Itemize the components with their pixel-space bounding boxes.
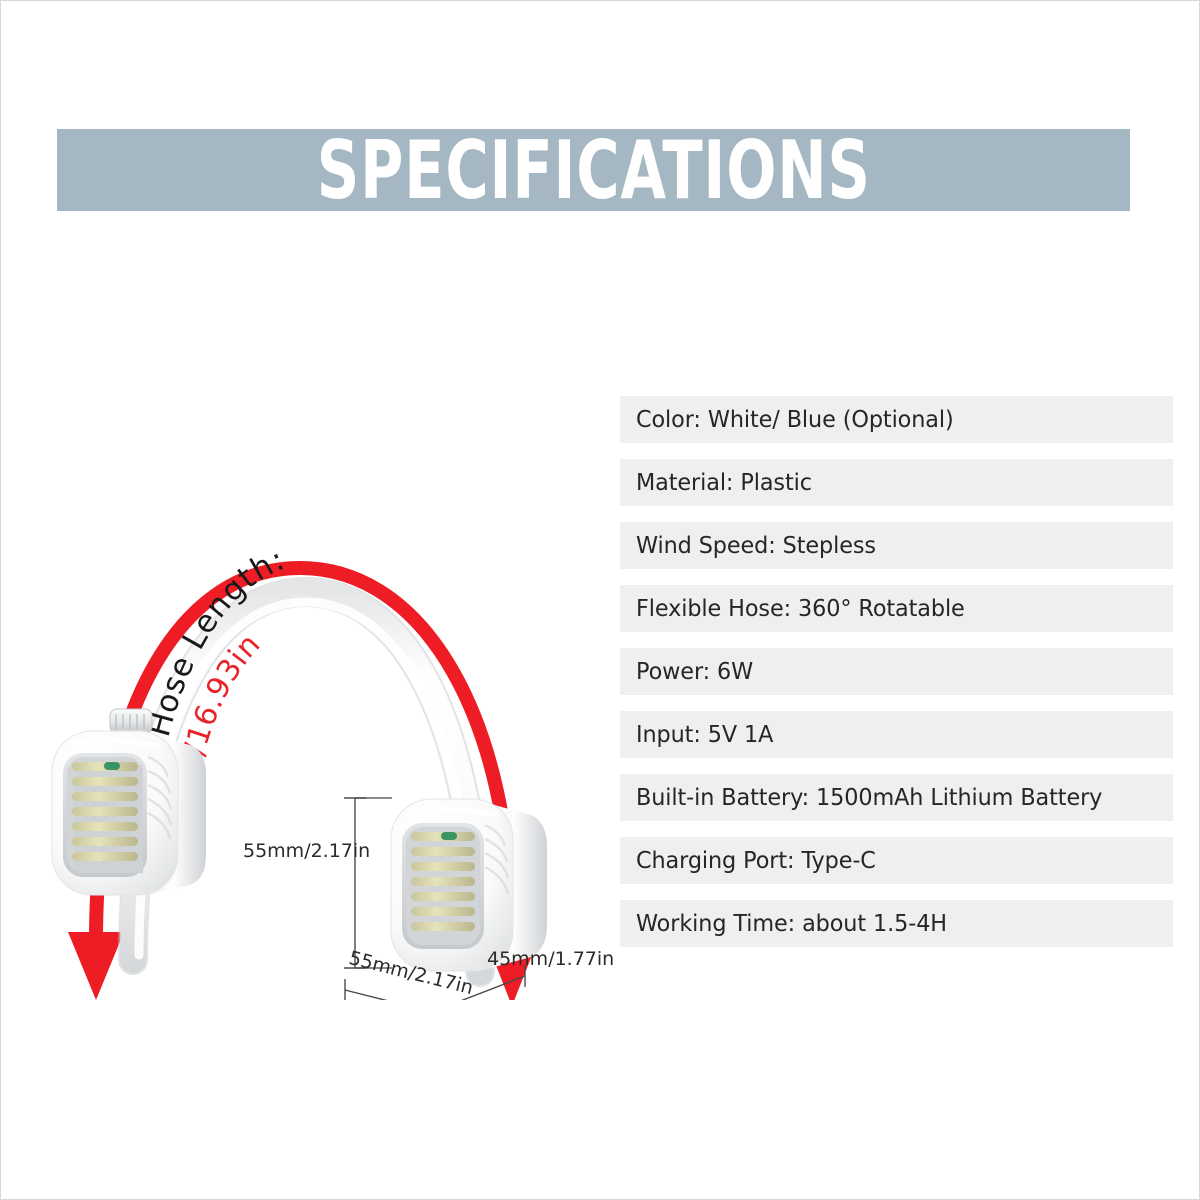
fan-unit-right [391, 799, 547, 971]
dim-line-width [345, 990, 432, 1000]
spec-row-charging-port: Charging Port: Type-C [620, 837, 1173, 884]
hose-connector-knob [110, 709, 152, 733]
spec-text: Working Time: about 1.5-4H [636, 912, 947, 936]
dimension-label-height: 55mm/2.17in [243, 840, 370, 862]
spec-text: Charging Port: Type-C [636, 849, 876, 873]
indicator-led [441, 832, 457, 840]
spec-row-power: Power: 6W [620, 648, 1173, 695]
product-illustration: Flexible Hose Length: 43cm/16.93in [0, 300, 620, 1000]
indicator-led [104, 762, 120, 770]
page-title: SPECIFICATIONS [316, 130, 870, 211]
spec-row-flexible-hose: Flexible Hose: 360° Rotatable [620, 585, 1173, 632]
spec-text: Color: White/ Blue (Optional) [636, 408, 954, 432]
spec-row-wind-speed: Wind Speed: Stepless [620, 522, 1173, 569]
spec-row-working-time: Working Time: about 1.5-4H [620, 900, 1173, 947]
spec-row-input: Input: 5V 1A [620, 711, 1173, 758]
spec-text: Built-in Battery: 1500mAh Lithium Batter… [636, 786, 1102, 810]
dimension-label-depth: 45mm/1.77in [487, 948, 614, 970]
specification-list: Color: White/ Blue (Optional) Material: … [620, 396, 1173, 947]
spec-text: Material: Plastic [636, 471, 812, 495]
spec-text: Power: 6W [636, 660, 753, 684]
spec-row-battery: Built-in Battery: 1500mAh Lithium Batter… [620, 774, 1173, 821]
spec-text: Wind Speed: Stepless [636, 534, 876, 558]
spec-text: Flexible Hose: 360° Rotatable [636, 597, 965, 621]
spec-row-material: Material: Plastic [620, 459, 1173, 506]
spec-text: Input: 5V 1A [636, 723, 773, 747]
header-banner: SPECIFICATIONS [57, 129, 1130, 211]
spec-row-color: Color: White/ Blue (Optional) [620, 396, 1173, 443]
